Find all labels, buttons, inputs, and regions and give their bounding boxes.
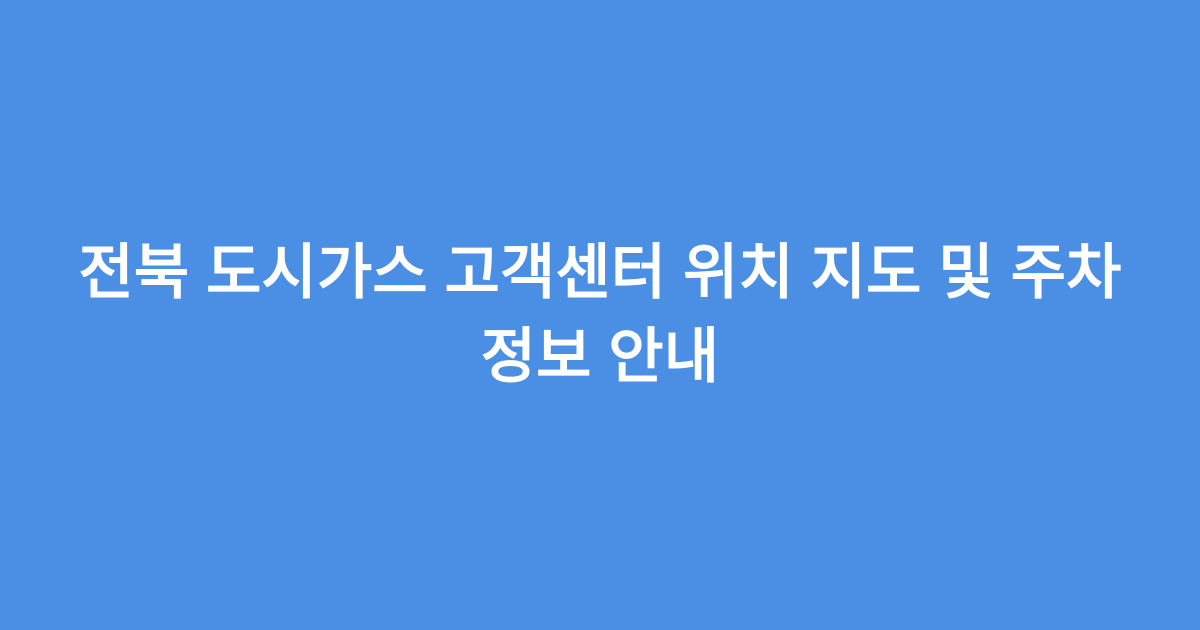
share-card-canvas: 전북 도시가스 고객센터 위치 지도 및 주차 정보 안내: [0, 0, 1200, 630]
page-title: 전북 도시가스 고객센터 위치 지도 및 주차 정보 안내: [70, 231, 1130, 399]
share-card-content: 전북 도시가스 고객센터 위치 지도 및 주차 정보 안내: [70, 231, 1130, 399]
